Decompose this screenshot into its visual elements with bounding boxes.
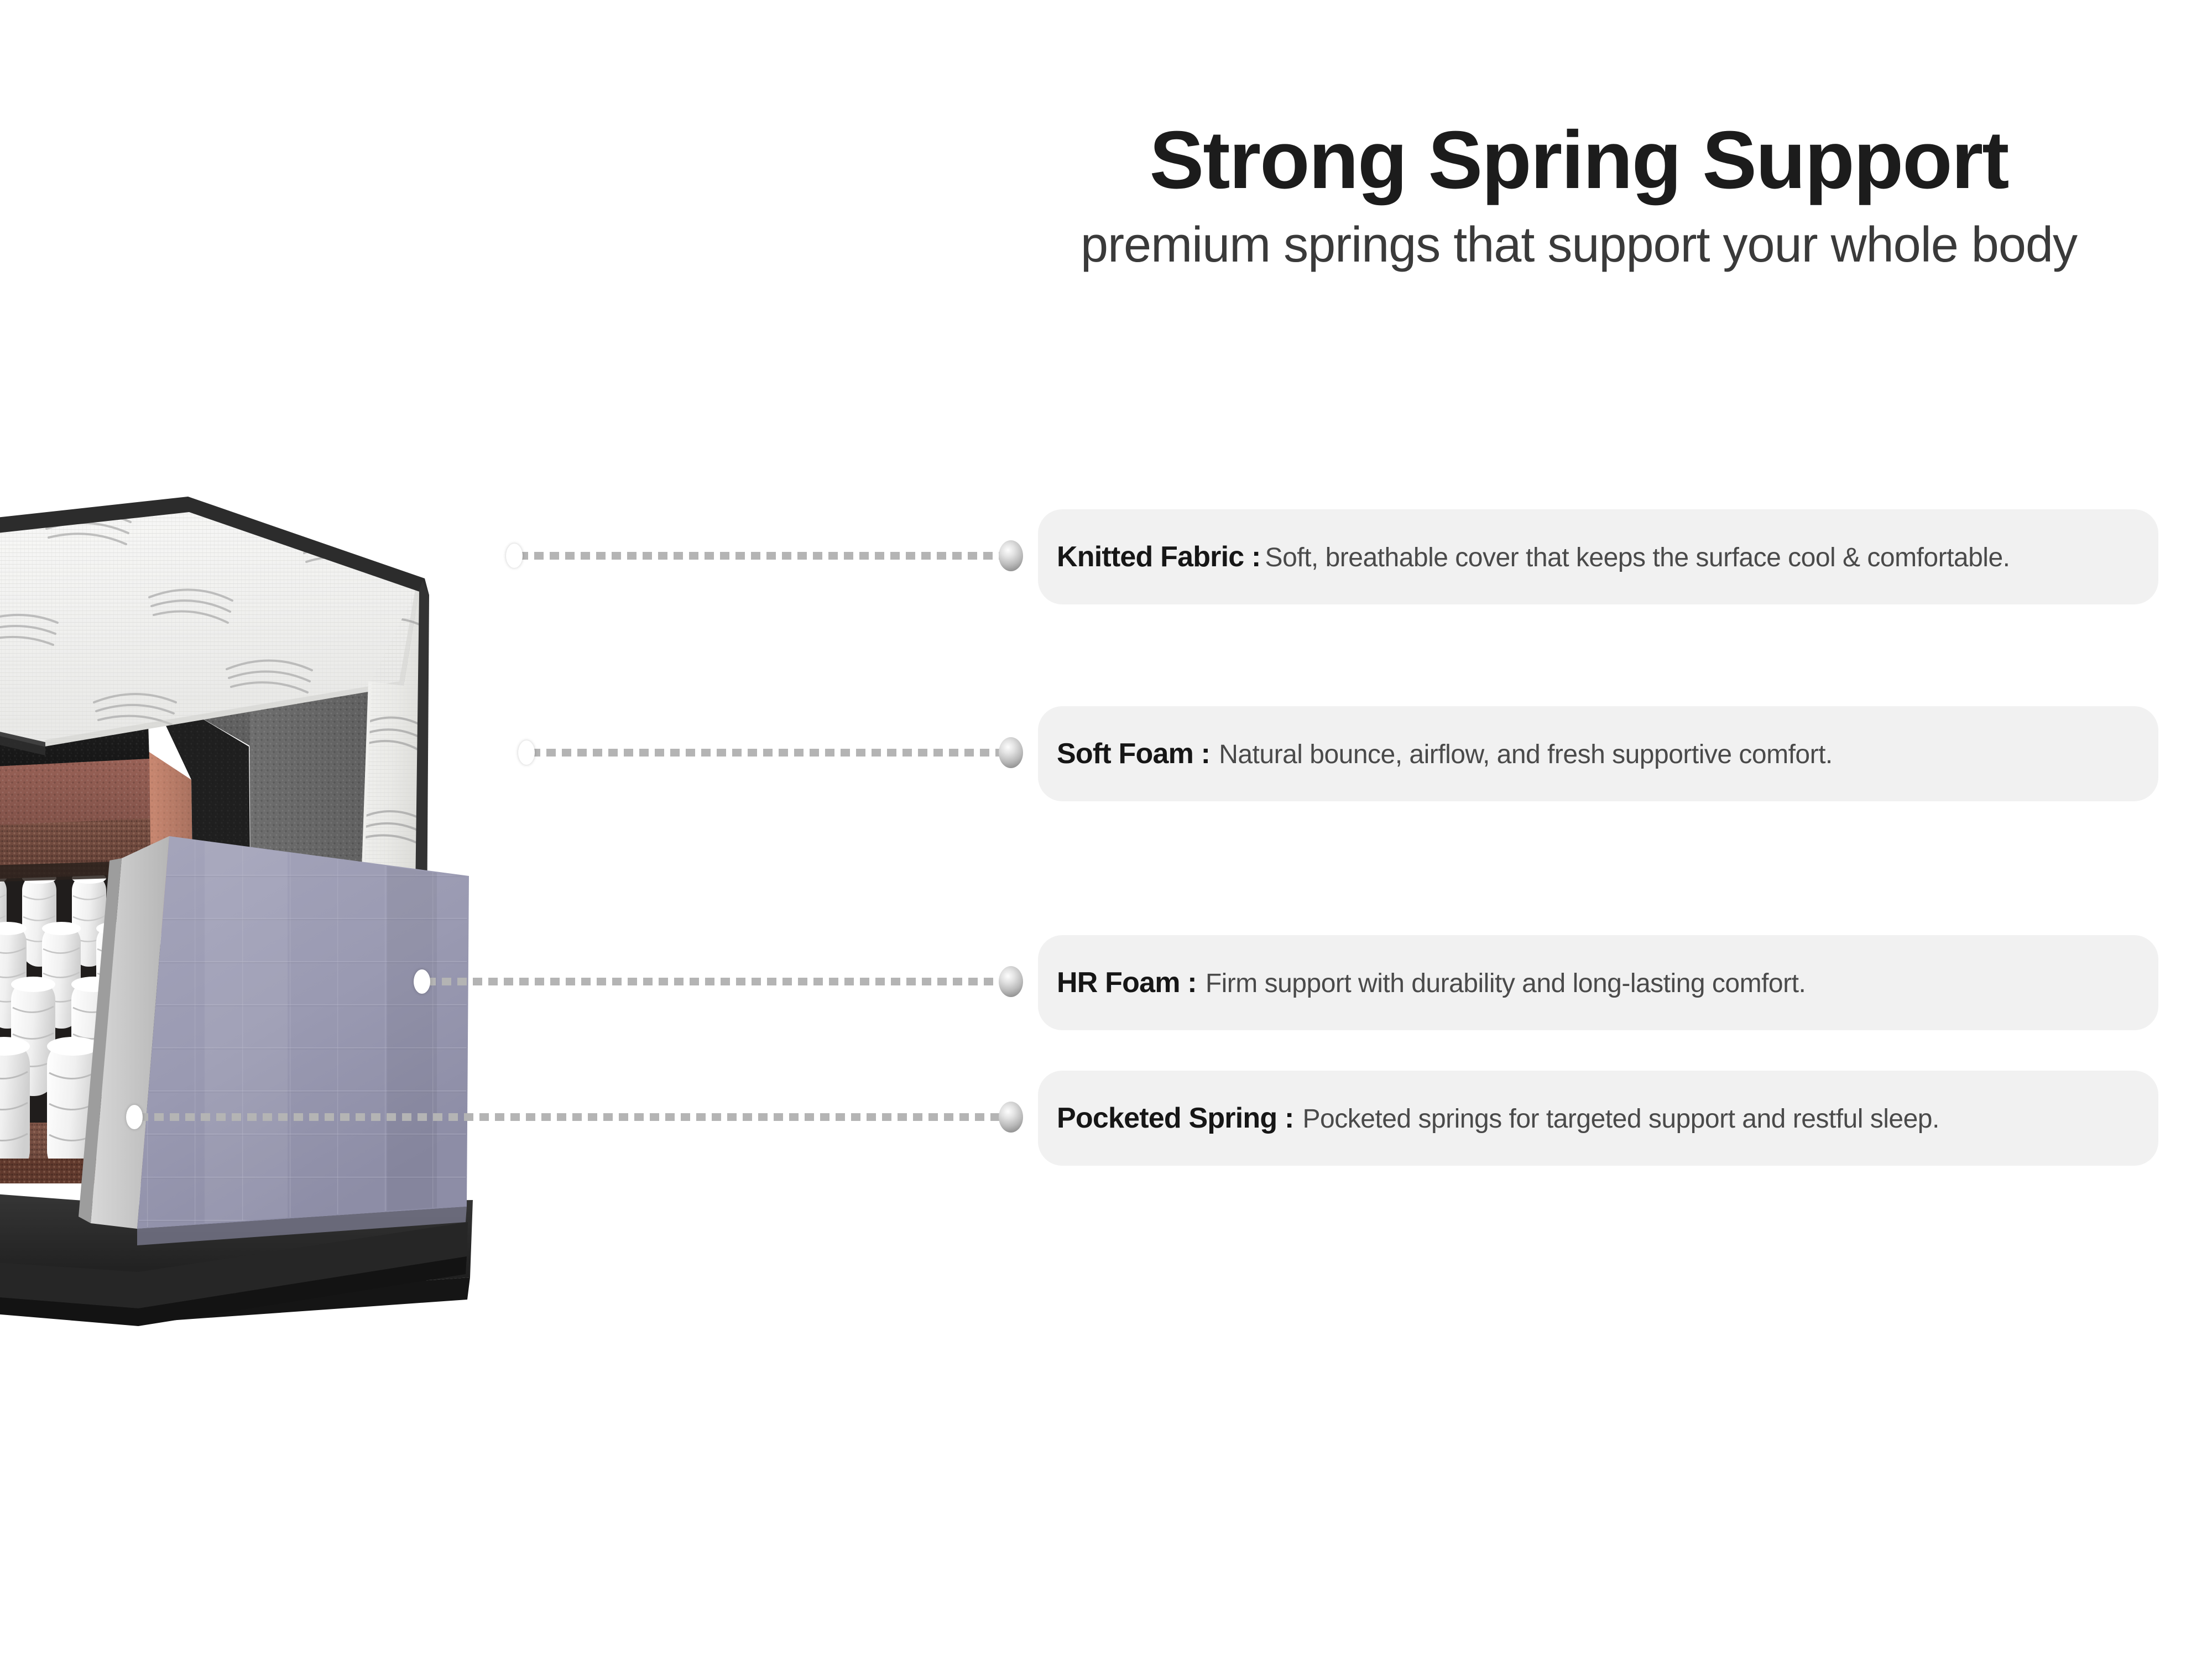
callout-card-hr-foam[interactable]: HR Foam : Firm support with durability a… [1038, 935, 2158, 1030]
sphere-endpoint-hr-foam [999, 966, 1023, 997]
callout-card-soft-foam[interactable]: Soft Foam : Natural bounce, airflow, and… [1038, 706, 2158, 801]
callout-description-pocketed-spring: Pocketed springs for targeted support an… [1302, 1104, 1939, 1134]
marker-dot-soft-foam [518, 740, 535, 765]
marker-dot-hr-foam [414, 969, 430, 994]
callout-card-knitted-fabric[interactable]: Knitted Fabric : Soft, breathable cover … [1038, 509, 2158, 604]
sphere-endpoint-knitted-fabric [999, 540, 1023, 571]
sphere-endpoint-pocketed-spring [999, 1102, 1023, 1133]
mattress-cutaway-image [0, 487, 984, 1349]
callout-description-knitted-fabric: Soft, breathable cover that keeps the su… [1265, 542, 2010, 573]
marker-dot-pocketed-spring [126, 1105, 143, 1129]
marker-dot-knitted-fabric [506, 544, 523, 568]
page-subtitle: premium springs that support your whole … [995, 217, 2162, 274]
leader-line-knitted-fabric [519, 552, 1006, 560]
page-title: Strong Spring Support [995, 119, 2162, 202]
callout-label-soft-foam: Soft Foam : [1057, 737, 1210, 770]
leader-line-soft-foam [531, 749, 1006, 757]
callout-label-knitted-fabric: Knitted Fabric : [1057, 540, 1261, 573]
callout-card-pocketed-spring[interactable]: Pocketed Spring : Pocketed springs for t… [1038, 1071, 2158, 1166]
leader-line-hr-foam [426, 978, 1006, 985]
header-block: Strong Spring Support premium springs th… [995, 119, 2162, 274]
callout-description-hr-foam: Firm support with durability and long-la… [1206, 968, 1806, 999]
sphere-endpoint-soft-foam [999, 737, 1023, 768]
callout-description-soft-foam: Natural bounce, airflow, and fresh suppo… [1219, 739, 1833, 770]
leader-line-pocketed-spring [139, 1113, 1006, 1121]
callout-label-pocketed-spring: Pocketed Spring : [1057, 1102, 1293, 1135]
callout-label-hr-foam: HR Foam : [1057, 966, 1197, 999]
